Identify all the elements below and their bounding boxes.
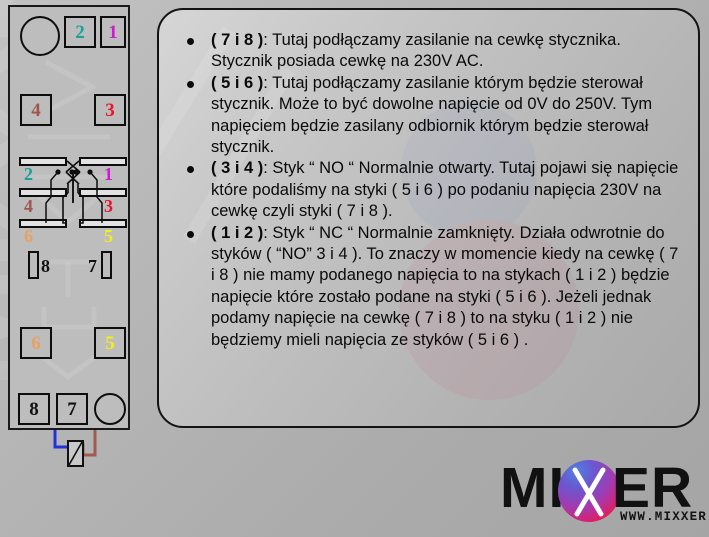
- relay-ghost-artwork: [10, 7, 128, 428]
- logo-text-right: ER: [612, 458, 693, 518]
- description-panel: ( 7 i 8 ): Tutaj podłączamy zasilanie na…: [157, 8, 700, 428]
- slide-canvas: MIXXER 2 1 4: [0, 0, 709, 537]
- relay-terminal-8[interactable]: 8: [18, 393, 50, 425]
- coil-pin-label-7: 7: [88, 257, 97, 275]
- contact-bar-1[interactable]: [79, 157, 127, 166]
- bullet-lead: ( 1 i 2 ): [211, 224, 263, 242]
- contact-label-4: 4: [24, 197, 33, 215]
- bullet-item-1-2: ( 1 i 2 ): Styk “ NC “ Normalnie zamknię…: [211, 223, 680, 351]
- wire-brown: [83, 430, 95, 455]
- relay-terminal-5[interactable]: 5: [94, 327, 126, 359]
- contact-label-6: 6: [24, 227, 33, 245]
- bullet-body: : Tutaj podłączamy zasilanie którym będz…: [211, 74, 652, 156]
- contact-label-2: 2: [24, 165, 33, 183]
- contact-bar-5[interactable]: [79, 219, 127, 228]
- contact-bar-3[interactable]: [79, 188, 127, 197]
- bullet-body: : Styk “ NC “ Normalnie zamknięty. Dział…: [211, 224, 678, 349]
- bullet-item-5-6: ( 5 i 6 ): Tutaj podłączamy zasilanie kt…: [211, 73, 680, 159]
- relay-terminal-circle-bottom[interactable]: [94, 393, 126, 425]
- bullet-list: ( 7 i 8 ): Tutaj podłączamy zasilanie na…: [159, 10, 698, 351]
- logo-x-icon: [558, 460, 620, 522]
- bullet-body: : Styk “ NO “ Normalnie otwarty. Tutaj p…: [211, 159, 678, 220]
- coil-pin-tab-8[interactable]: [28, 251, 39, 279]
- contact-label-3: 3: [104, 197, 113, 215]
- contact-label-5: 5: [104, 227, 113, 245]
- relay-terminal-2[interactable]: 2: [64, 16, 96, 48]
- bullet-lead: ( 5 i 6 ): [211, 74, 263, 92]
- logo-text-left: MI: [500, 458, 565, 518]
- relay-terminal-3[interactable]: 3: [94, 94, 126, 126]
- relay-terminal-6[interactable]: 6: [20, 327, 52, 359]
- bullet-item-7-8: ( 7 i 8 ): Tutaj podłączamy zasilanie na…: [211, 30, 680, 73]
- relay-terminal-circle-top[interactable]: [20, 16, 60, 56]
- relay-terminal-7[interactable]: 7: [56, 393, 88, 425]
- coil-symbol: [68, 441, 83, 466]
- relay-terminal-1[interactable]: 1: [100, 16, 126, 48]
- logo-url: WWW.MIXXER.PL: [620, 510, 709, 524]
- bullet-lead: ( 3 i 4 ): [211, 159, 263, 177]
- relay-diagram: 2 1 4 3: [8, 5, 130, 430]
- mixxer-logo: MI ER WWW.MIXXER.PL: [500, 458, 700, 530]
- contact-label-1: 1: [104, 165, 113, 183]
- bullet-body: : Tutaj podłączamy zasilanie na cewkę st…: [211, 31, 621, 70]
- switch-linkage-artwork: [10, 7, 128, 428]
- bullet-lead: ( 7 i 8 ): [211, 31, 263, 49]
- bullet-item-3-4: ( 3 i 4 ): Styk “ NO “ Normalnie otwarty…: [211, 158, 680, 222]
- coil-pin-tab-7[interactable]: [101, 251, 112, 279]
- coil-pin-label-8: 8: [41, 257, 50, 275]
- relay-terminal-4[interactable]: 4: [20, 94, 52, 126]
- wire-blue: [55, 430, 69, 462]
